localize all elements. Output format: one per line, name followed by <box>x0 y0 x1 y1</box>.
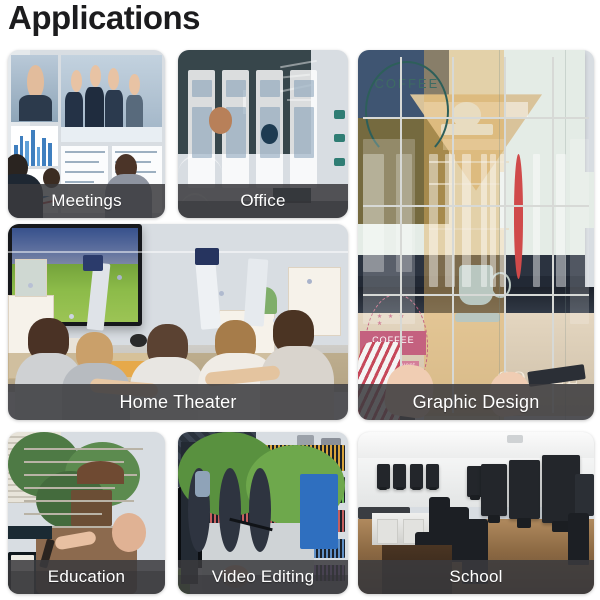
tile-video-editing[interactable]: Video Editing <box>178 432 348 594</box>
page-title: Applications <box>8 0 200 40</box>
tile-label-video-editing: Video Editing <box>178 560 348 594</box>
tile-school[interactable]: School <box>358 432 594 594</box>
tile-label-home-theater: Home Theater <box>8 384 348 420</box>
tile-label-office: Office <box>178 184 348 218</box>
applications-grid: Meetings <box>0 44 600 600</box>
tile-office[interactable]: Office <box>178 50 348 218</box>
tile-label-school: School <box>358 560 594 594</box>
tile-meetings[interactable]: Meetings <box>8 50 165 218</box>
tile-label-meetings: Meetings <box>8 184 165 218</box>
tile-education[interactable]: Education <box>8 432 165 594</box>
tile-graphic-design[interactable]: COFFEE COFFEE COFFEE Special Event ★ ★ ★… <box>358 50 594 420</box>
graphic-design-photo: COFFEE COFFEE COFFEE Special Event ★ ★ ★… <box>358 50 594 420</box>
tile-label-graphic-design: Graphic Design <box>358 384 594 420</box>
tile-home-theater[interactable]: Home Theater <box>8 224 348 420</box>
tile-label-education: Education <box>8 560 165 594</box>
